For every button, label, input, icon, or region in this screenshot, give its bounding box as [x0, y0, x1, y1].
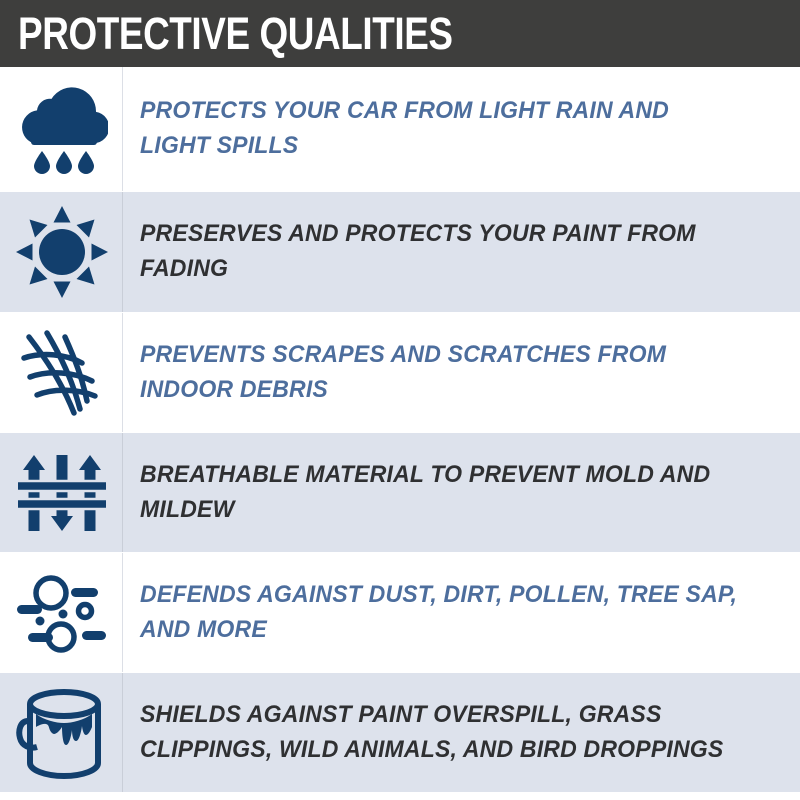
icon-cell: [0, 67, 123, 191]
icon-cell: [0, 553, 123, 672]
sun-icon: [16, 206, 108, 298]
feature-list: PROTECTS YOUR CAR FROM LIGHT RAIN AND LI…: [0, 67, 800, 800]
text-cell: PRESERVES AND PROTECTS YOUR PAINT FROM F…: [123, 192, 800, 312]
icon-cell: [0, 673, 123, 792]
text-cell: PROTECTS YOUR CAR FROM LIGHT RAIN AND LI…: [123, 67, 800, 191]
feature-text: DEFENDS AGAINST DUST, DIRT, POLLEN, TREE…: [140, 578, 738, 648]
icon-cell: [0, 192, 123, 312]
icon-cell: [0, 313, 123, 432]
paint-can-icon: [16, 683, 108, 783]
icon-cell: [0, 433, 123, 552]
text-cell: SHIELDS AGAINST PAINT OVERSPILL, GRASS C…: [123, 673, 800, 792]
text-cell: PREVENTS SCRAPES AND SCRATCHES FROM INDO…: [123, 313, 800, 432]
feature-row-paint: SHIELDS AGAINST PAINT OVERSPILL, GRASS C…: [0, 673, 800, 793]
text-cell: BREATHABLE MATERIAL TO PREVENT MOLD AND …: [123, 433, 800, 552]
feature-row-dust: DEFENDS AGAINST DUST, DIRT, POLLEN, TREE…: [0, 553, 800, 673]
feature-text: PREVENTS SCRAPES AND SCRATCHES FROM INDO…: [140, 338, 738, 408]
scratch-mesh-icon: [16, 325, 108, 421]
dust-particles-icon: [16, 569, 108, 657]
page-title: PROTECTIVE QUALITIES: [18, 11, 453, 56]
header-bar: PROTECTIVE QUALITIES: [0, 0, 800, 67]
feature-text: PROTECTS YOUR CAR FROM LIGHT RAIN AND LI…: [140, 94, 738, 164]
feature-row-scratches: PREVENTS SCRAPES AND SCRATCHES FROM INDO…: [0, 313, 800, 433]
feature-row-sun: PRESERVES AND PROTECTS YOUR PAINT FROM F…: [0, 192, 800, 313]
feature-text: BREATHABLE MATERIAL TO PREVENT MOLD AND …: [140, 458, 738, 528]
protective-qualities-infographic: PROTECTIVE QUALITIES PROTECTS YOUR CAR F…: [0, 0, 800, 800]
rain-cloud-icon: [16, 82, 108, 176]
text-cell: DEFENDS AGAINST DUST, DIRT, POLLEN, TREE…: [123, 553, 800, 672]
feature-row-breathable: BREATHABLE MATERIAL TO PREVENT MOLD AND …: [0, 433, 800, 553]
feature-row-rain: PROTECTS YOUR CAR FROM LIGHT RAIN AND LI…: [0, 67, 800, 192]
feature-text: SHIELDS AGAINST PAINT OVERSPILL, GRASS C…: [140, 698, 738, 768]
feature-text: PRESERVES AND PROTECTS YOUR PAINT FROM F…: [140, 217, 738, 287]
breathable-arrows-icon: [16, 447, 108, 539]
